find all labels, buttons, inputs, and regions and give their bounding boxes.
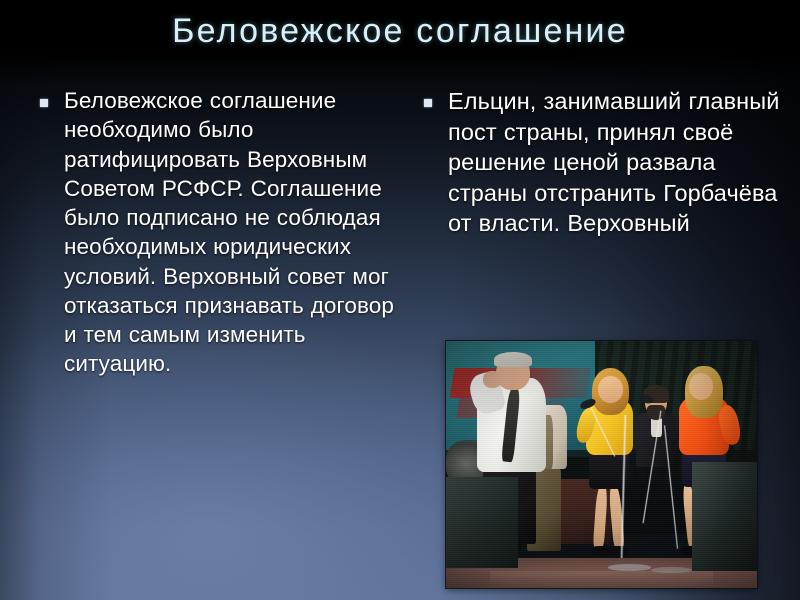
square-bullet-icon: [424, 99, 432, 107]
slide-title: Беловежское соглашение: [0, 12, 800, 51]
square-bullet-icon: [40, 99, 48, 107]
stage-photo: [446, 341, 757, 588]
stage-photo-image: [446, 341, 757, 588]
bullet-item-right: Ельцин, занимавший главный пост страны, …: [412, 86, 800, 239]
bullet-item-left: Беловежское соглашение необходимо было р…: [28, 86, 400, 379]
bullet-column-right: Ельцин, занимавший главный пост страны, …: [412, 86, 800, 239]
photo-grain: [446, 341, 757, 588]
bullet-item-left-text: Беловежское соглашение необходимо было р…: [64, 86, 400, 379]
bullet-item-right-text: Ельцин, занимавший главный пост страны, …: [448, 86, 800, 239]
bullet-column-left: Беловежское соглашение необходимо было р…: [28, 86, 400, 379]
presentation-slide: Беловежское соглашение Беловежское согла…: [0, 0, 800, 600]
